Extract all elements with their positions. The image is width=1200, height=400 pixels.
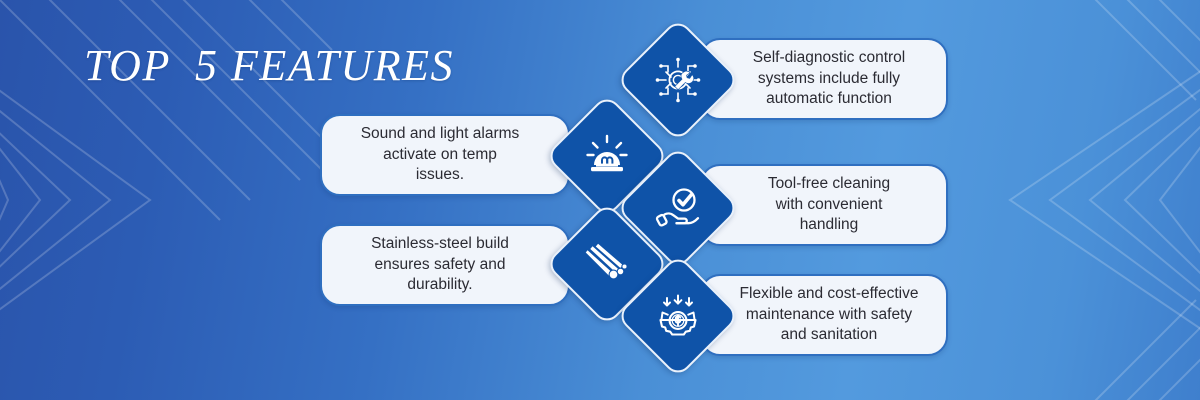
feature-card-4[interactable]: Stainless-steel build ensures safety and… — [320, 224, 570, 306]
feature-card-3[interactable]: Tool-free cleaning with convenient handl… — [700, 164, 948, 246]
feature-card-1-text: Self-diagnostic control systems include … — [731, 48, 918, 110]
feature-card-1[interactable]: Self-diagnostic control systems include … — [700, 38, 948, 120]
cost-reduction-gear-icon — [654, 292, 702, 340]
page-title: TOP 5 FEATURES — [84, 40, 454, 91]
feature-card-5-text: Flexible and cost-effective maintenance … — [718, 284, 931, 346]
infographic-banner: TOP 5 FEATURES Self-diagnostic control s… — [0, 0, 1200, 400]
feature-card-4-text: Stainless-steel build ensures safety and… — [359, 234, 531, 296]
circuit-diagnostic-icon — [654, 56, 702, 104]
alarm-siren-icon — [583, 132, 631, 180]
feature-card-5[interactable]: Flexible and cost-effective maintenance … — [700, 274, 948, 356]
feature-card-2-text: Sound and light alarms activate on temp … — [349, 124, 542, 186]
feature-card-2[interactable]: Sound and light alarms activate on temp … — [320, 114, 570, 196]
steel-pipes-icon — [583, 240, 631, 288]
hand-checkmark-icon — [654, 184, 702, 232]
feature-card-3-text: Tool-free cleaning with convenient handl… — [746, 174, 902, 236]
